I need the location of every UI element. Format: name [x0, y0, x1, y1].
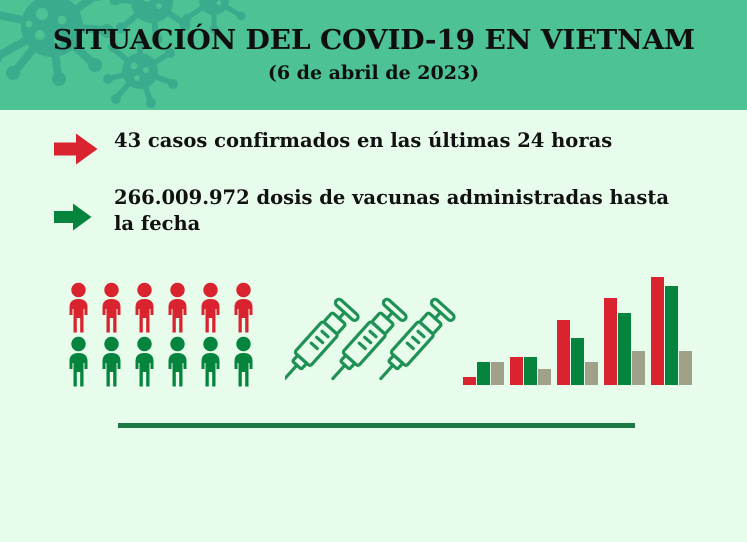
bullet-list: 43 casos confirmados en las últimas 24 h… — [54, 128, 694, 237]
bullet-text-vaccines: 266.009.972 dosis de vacunas administrad… — [114, 185, 669, 237]
syringe-icon — [370, 298, 455, 388]
person-icon — [229, 336, 258, 388]
bar-green-1 — [477, 362, 490, 385]
people-pictogram — [64, 282, 260, 390]
person-icon — [64, 282, 93, 334]
green-people-row — [64, 336, 260, 388]
bar-gray-5 — [679, 351, 692, 385]
person-icon — [196, 336, 225, 388]
page-title: SITUACIÓN DEL COVID-19 EN VIETNAM — [52, 26, 694, 55]
person-icon — [163, 282, 192, 334]
bar-chart-plot — [463, 272, 689, 385]
bar-green-2 — [524, 357, 537, 385]
bar-green-5 — [665, 286, 678, 385]
person-icon — [97, 336, 126, 388]
arrow-right-icon — [54, 203, 92, 231]
person-icon — [130, 336, 159, 388]
person-icon — [196, 282, 225, 334]
bar-red-5 — [651, 277, 664, 385]
bottom-divider-line — [118, 423, 635, 428]
bar-red-3 — [557, 320, 570, 385]
person-icon — [130, 282, 159, 334]
page-subtitle-date: (6 de abril de 2023) — [268, 64, 479, 84]
bar-gray-1 — [491, 362, 504, 385]
bar-green-3 — [571, 338, 584, 385]
syringe-icon — [322, 298, 407, 388]
arrow-right-icon — [54, 133, 98, 165]
bullet-item-vaccines: 266.009.972 dosis de vacunas administrad… — [54, 185, 694, 237]
bar-group-5 — [651, 277, 692, 385]
person-icon — [163, 336, 192, 388]
graphics-row — [0, 272, 747, 392]
bullet-text-cases: 43 casos confirmados en las últimas 24 h… — [114, 128, 612, 154]
header-text-group: SITUACIÓN DEL COVID-19 EN VIETNAM (6 de … — [0, 0, 747, 110]
syringe-illustration — [285, 284, 460, 389]
bullet-item-cases: 43 casos confirmados en las últimas 24 h… — [54, 128, 694, 165]
bar-red-4 — [604, 298, 617, 385]
bar-gray-2 — [538, 369, 551, 385]
infographic-root: SITUACIÓN DEL COVID-19 EN VIETNAM (6 de … — [0, 0, 747, 542]
person-icon — [97, 282, 126, 334]
bar-group-1 — [463, 362, 504, 385]
bar-group-2 — [510, 357, 551, 385]
bar-group-4 — [604, 298, 645, 385]
bar-gray-4 — [632, 351, 645, 385]
syringe-group — [285, 284, 460, 389]
header-banner: SITUACIÓN DEL COVID-19 EN VIETNAM (6 de … — [0, 0, 747, 110]
person-icon — [64, 336, 93, 388]
bar-red-2 — [510, 357, 523, 385]
bar-group-3 — [557, 320, 598, 385]
syringe-icon — [285, 298, 359, 388]
bar-chart — [463, 272, 689, 390]
person-icon — [229, 282, 258, 334]
red-people-row — [64, 282, 260, 334]
bar-gray-3 — [585, 362, 598, 385]
bar-red-1 — [463, 377, 476, 385]
bar-green-4 — [618, 313, 631, 385]
